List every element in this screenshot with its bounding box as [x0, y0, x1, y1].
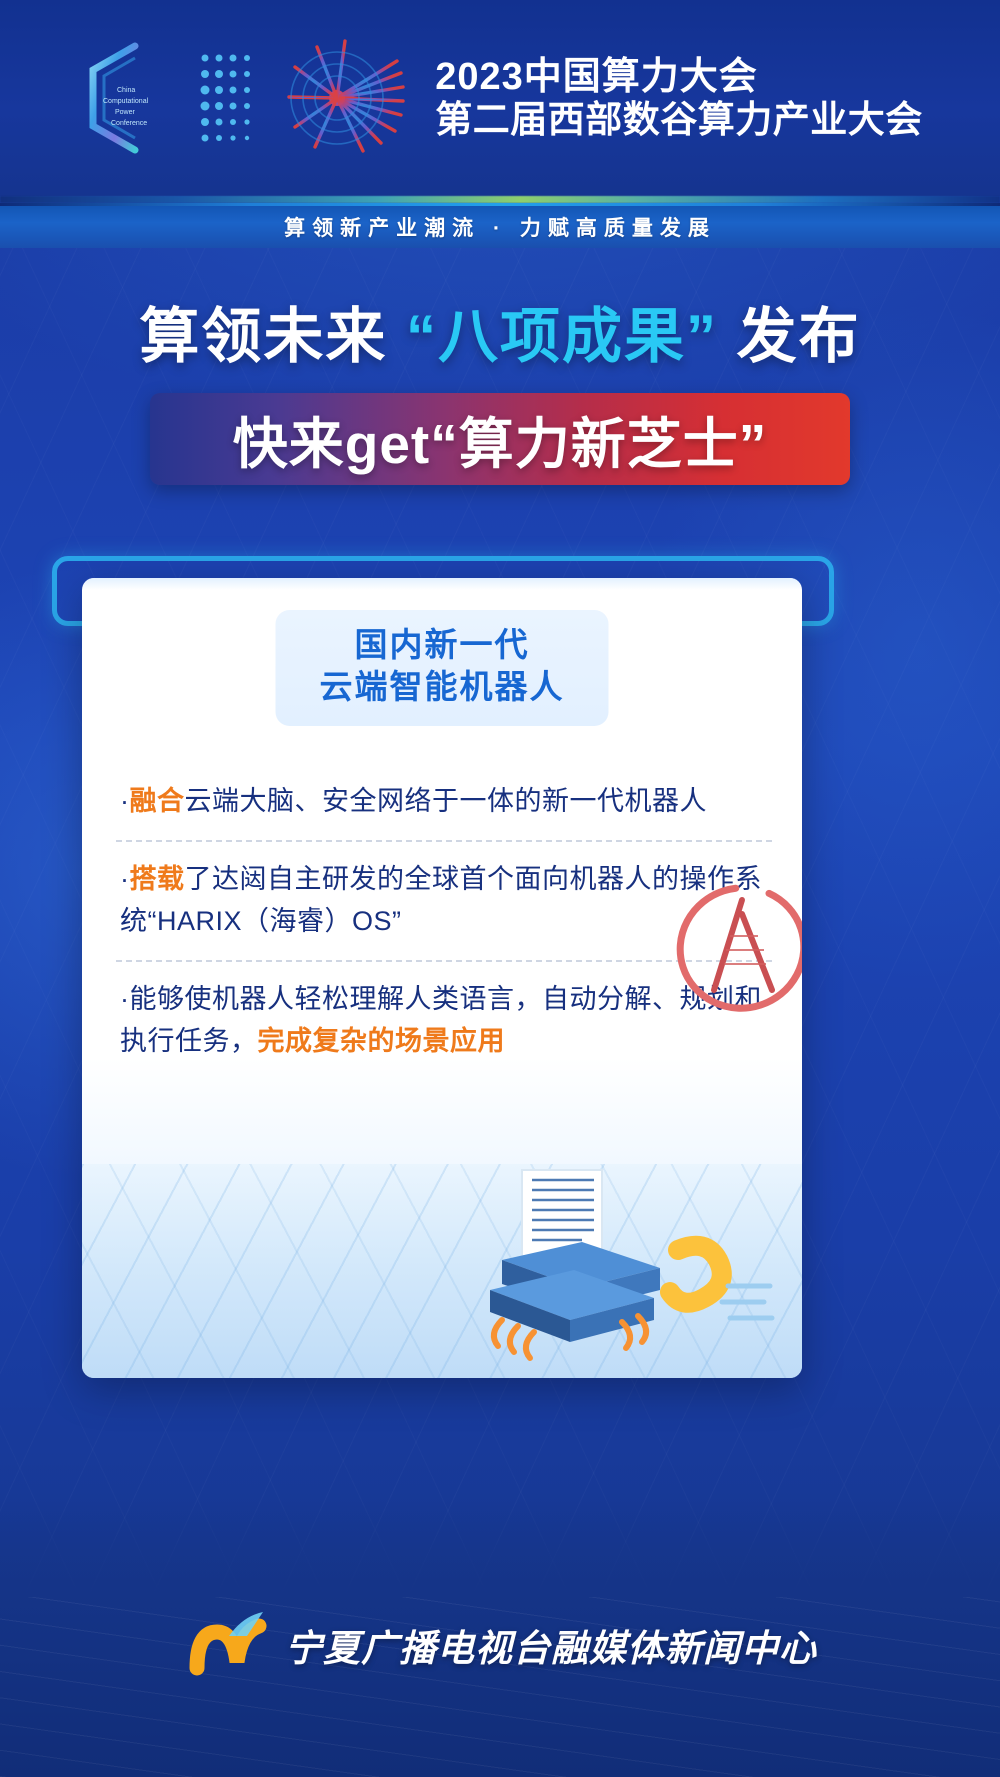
list-item: ·能够使机器人轻松理解人类语言，自动分解、规划和执行任务，完成复杂的场景应用 — [116, 962, 772, 1080]
bullet-highlight: 搭载 — [130, 864, 185, 894]
conference-header: China Computational Power Conference — [0, 0, 1000, 196]
headline-block: 算领未来 “八项成果” 发布 快来get“算力新芝士” — [0, 288, 1000, 485]
footer-brand-name: 宁夏广播电视台融媒体新闻中心 — [285, 1618, 817, 1672]
conference-title: 2023中国算力大会 第二届西部数谷算力产业大会 — [435, 56, 923, 140]
svg-text:China: China — [117, 87, 135, 94]
headline-banner-text: 快来get“算力新芝士” — [233, 399, 768, 479]
bullet-mark: · — [120, 786, 130, 816]
list-item: ·搭载了达闼自主研发的全球首个面向机器人的操作系统“HARIX（海睿）OS” — [116, 842, 772, 960]
headline-line1: 算领未来 “八项成果” 发布 — [0, 288, 1000, 375]
header-gradient-rule — [0, 196, 1000, 203]
isometric-server-document-illustration — [82, 1164, 802, 1378]
bullet-text: 了达闼自主研发的全球首个面向机器人的操作系统“HARIX（海睿）OS” — [120, 864, 762, 936]
bullet-highlight: 融合 — [130, 786, 185, 816]
bullet-tail-highlight: 完成复杂的场景应用 — [258, 1026, 506, 1056]
radial-fan-data-logo — [285, 39, 413, 157]
footer-brand: 宁夏广播电视台融媒体新闻中心 — [0, 1600, 1000, 1690]
svg-text:Computational: Computational — [103, 98, 149, 105]
card-title-line2: 云端智能机器人 — [320, 666, 565, 708]
card-title-badge: 国内新一代 云端智能机器人 — [276, 610, 609, 726]
result-card: 国内新一代 云端智能机器人 ·融合云端大脑、安全网络于一体的新一代机器人 ·搭载… — [82, 578, 802, 1378]
card-top-highlight — [82, 578, 802, 590]
nxtv-orange-n-logo — [183, 1606, 271, 1685]
headline-suffix: 发布 — [718, 303, 861, 370]
svg-text:Power: Power — [115, 109, 136, 116]
slogan-text: 算领新产业潮流 · 力赋高质量发展 — [284, 212, 716, 242]
headline-prefix: 算领未来 — [139, 303, 406, 370]
conference-title-line1: 2023中国算力大会 — [435, 56, 923, 99]
svg-text:Conference: Conference — [111, 120, 147, 127]
card-title-line1: 国内新一代 — [320, 624, 565, 666]
list-item: ·融合云端大脑、安全网络于一体的新一代机器人 — [116, 764, 772, 840]
card-bullet-list: ·融合云端大脑、安全网络于一体的新一代机器人 ·搭载了达闼自主研发的全球首个面向… — [116, 764, 772, 1081]
bullet-mark: · — [120, 864, 130, 894]
bullet-text: 云端大脑、安全网络于一体的新一代机器人 — [185, 786, 708, 816]
bullet-mark: · — [120, 984, 130, 1014]
dot-matrix-icon — [197, 48, 263, 148]
headline-quoted: “八项成果” — [406, 303, 718, 370]
headline-red-banner: 快来get“算力新芝士” — [150, 393, 850, 485]
conference-title-line2: 第二届西部数谷算力产业大会 — [435, 99, 923, 140]
china-computational-power-conference-hex-logo: China Computational Power Conference — [77, 40, 189, 156]
slogan-strip: 算领新产业潮流 · 力赋高质量发展 — [0, 206, 1000, 248]
